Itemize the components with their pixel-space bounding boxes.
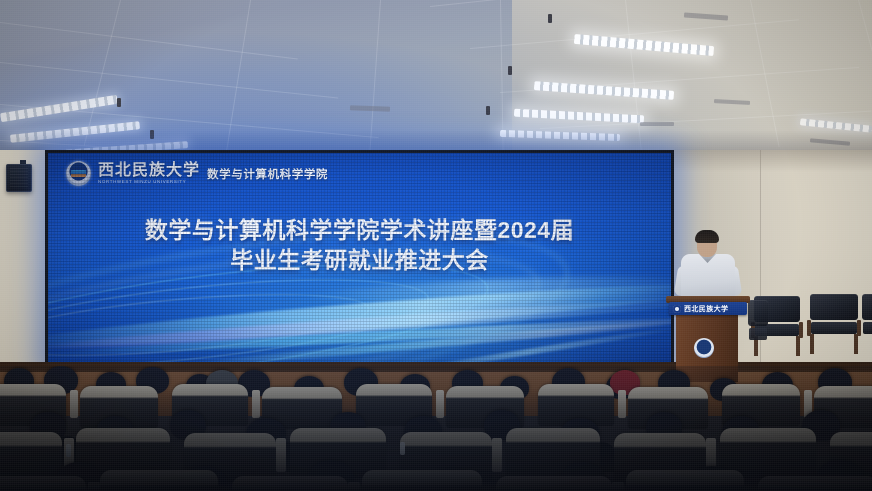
audience <box>0 366 872 491</box>
presenter-hair <box>695 230 719 243</box>
right-wall-top-shade <box>672 150 872 172</box>
podium-seal-icon <box>673 305 681 313</box>
wall-speaker-icon <box>6 164 32 192</box>
podium-nameplate-text: 西北民族大学 <box>684 304 728 314</box>
podium-nameplate: 西北民族大学 <box>669 302 747 315</box>
podium-emblem-icon <box>694 338 714 358</box>
led-screen: 西北民族大学 NORTHWEST MINZU UNIVERSITY 数学与计算机… <box>48 153 671 367</box>
led-pixel-grid <box>48 153 671 367</box>
wall-seam <box>760 150 761 390</box>
lecture-hall-photo: 西北民族大学 NORTHWEST MINZU UNIVERSITY 数学与计算机… <box>0 0 872 491</box>
